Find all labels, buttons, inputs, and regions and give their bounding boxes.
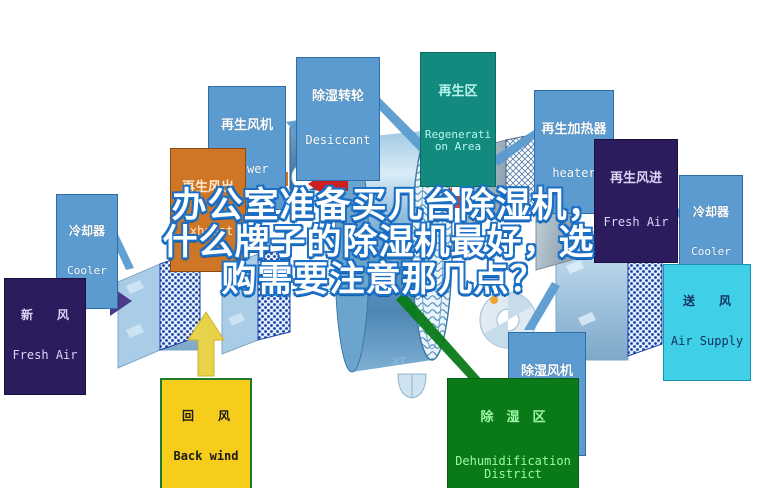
label-dehumidification-district-en: Dehumidification District xyxy=(450,455,576,482)
label-cooler-left-en: Cooler xyxy=(59,265,115,277)
label-cooler-left-cn: 冷却器 xyxy=(59,225,115,238)
svg-text:XT: XT xyxy=(392,356,406,368)
label-regeneration-exhaust-cn: 再生风出 xyxy=(173,181,243,196)
label-air-supply: 送 风 Air Supply xyxy=(663,264,751,381)
label-desiccant-rotor-cn: 除湿转轮 xyxy=(299,90,377,105)
label-fresh-air-inlet: 新 风 Fresh Air xyxy=(4,278,86,395)
label-dehumidification-district: 除 湿 区 Dehumidification District xyxy=(447,378,579,488)
label-regeneration-exhaust: 再生风出 Exhaust xyxy=(170,148,246,272)
label-regeneration-heater-cn: 再生加热器 xyxy=(537,123,611,138)
label-cooler-right-en: Cooler xyxy=(682,246,740,258)
label-regeneration-blower-cn: 再生风机 xyxy=(211,119,283,134)
label-desiccant-rotor-en: Desiccant xyxy=(299,134,377,147)
label-air-supply-cn: 送 风 xyxy=(666,295,748,308)
label-back-wind-en: Back wind xyxy=(164,450,248,463)
label-back-wind-cn: 回 风 xyxy=(164,410,248,423)
label-desiccant-rotor: 除湿转轮 Desiccant xyxy=(296,57,380,181)
label-regeneration-area: 再生区 Regenerati on Area xyxy=(420,52,496,187)
label-cooler-right-cn: 冷却器 xyxy=(682,206,740,219)
label-dehumidification-district-cn: 除 湿 区 xyxy=(450,411,576,426)
label-fresh-air-inlet-cn: 新 风 xyxy=(7,309,83,322)
label-regeneration-area-en: Regenerati on Area xyxy=(423,129,493,154)
label-regeneration-air-inlet-cn: 再生风进 xyxy=(597,172,675,187)
label-back-wind: 回 风 Back wind xyxy=(160,378,252,488)
label-regeneration-exhaust-en: Exhaust xyxy=(173,225,243,238)
diagram-canvas: XT xyxy=(0,0,757,488)
label-regeneration-area-cn: 再生区 xyxy=(423,85,493,100)
label-regeneration-air-inlet-en: Fresh Air xyxy=(597,216,675,229)
condensate-tray xyxy=(398,374,426,398)
label-regeneration-air-inlet: 再生风进 Fresh Air xyxy=(594,139,678,263)
label-fresh-air-inlet-en: Fresh Air xyxy=(7,349,83,362)
label-air-supply-en: Air Supply xyxy=(666,335,748,348)
